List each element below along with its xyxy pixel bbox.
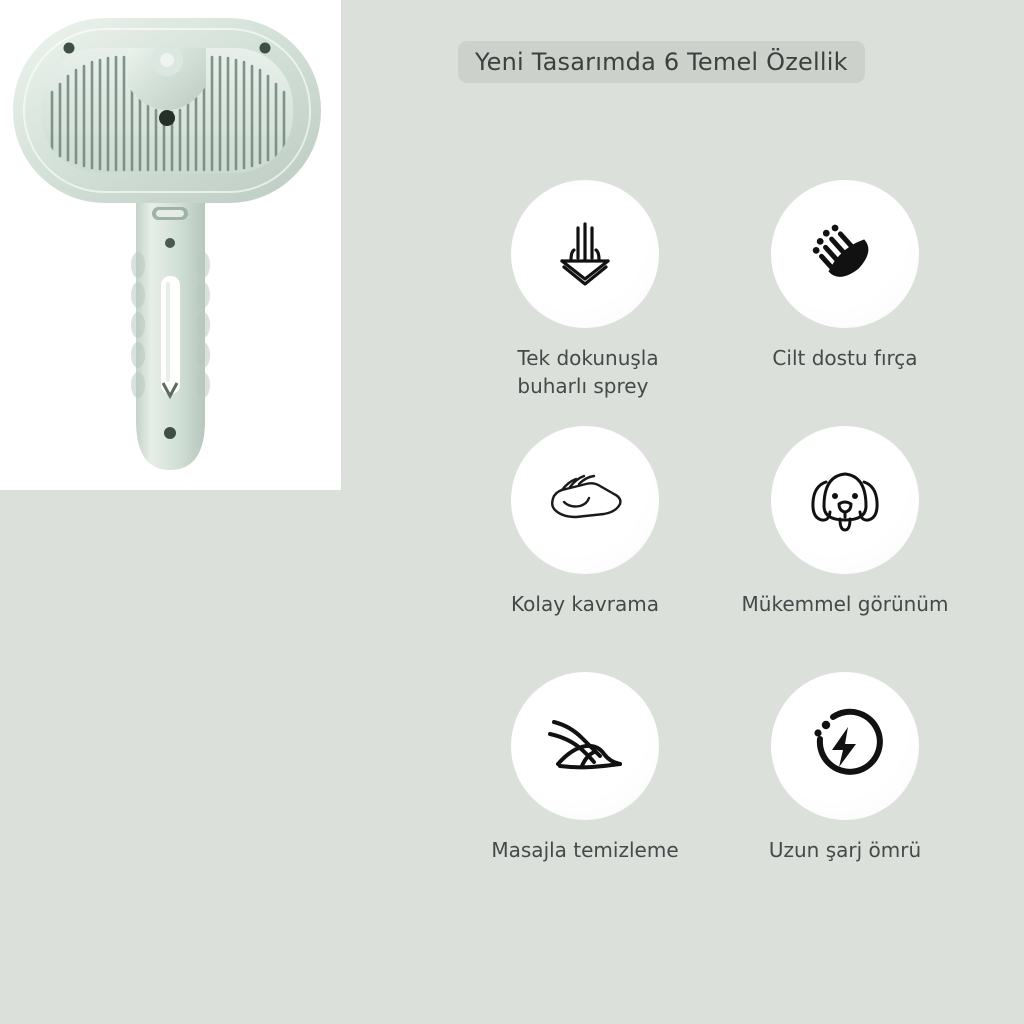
feature-label: Cilt dostu fırça bbox=[772, 344, 917, 372]
feature-icon-circle bbox=[511, 426, 659, 574]
feature-icon-circle bbox=[771, 180, 919, 328]
screw-right bbox=[260, 43, 271, 54]
screw-bottom bbox=[164, 427, 176, 439]
dog-face-icon bbox=[804, 462, 886, 538]
feature-item-massage[interactable]: Masajla temizleme bbox=[455, 672, 715, 892]
product-image-panel bbox=[0, 0, 341, 490]
feature-label: Uzun şarj ömrü bbox=[769, 836, 921, 864]
feature-label: Masajla temizleme bbox=[491, 836, 678, 864]
feature-item-appearance[interactable]: Mükemmel görünüm bbox=[715, 426, 975, 646]
usb-c-port-icon bbox=[152, 207, 188, 220]
feature-label: Tek dokunuşla buharlı sprey bbox=[517, 344, 658, 400]
feature-item-grip[interactable]: Kolay kavrama bbox=[455, 426, 715, 646]
screw-top bbox=[165, 238, 175, 248]
page-title-badge: Yeni Tasarımda 6 Temel Özellik bbox=[458, 41, 865, 83]
feature-icon-circle bbox=[771, 672, 919, 820]
open-hand-icon bbox=[542, 462, 628, 538]
feature-icon-circle bbox=[511, 672, 659, 820]
product-head bbox=[13, 18, 321, 203]
page-title: Yeni Tasarımda 6 Temel Özellik bbox=[475, 48, 848, 76]
feature-item-battery[interactable]: Uzun şarj ömrü bbox=[715, 672, 975, 892]
feature-item-steam-spray[interactable]: Tek dokunuşla buharlı sprey bbox=[455, 180, 715, 400]
screw-left bbox=[64, 43, 75, 54]
steam-spray-icon bbox=[547, 216, 623, 292]
fast-charge-icon bbox=[806, 707, 884, 785]
massage-hand-icon bbox=[542, 708, 628, 784]
center-button[interactable] bbox=[159, 110, 175, 126]
feature-label: Kolay kavrama bbox=[511, 590, 659, 618]
feature-icon-circle bbox=[771, 426, 919, 574]
feature-item-brush[interactable]: Cilt dostu fırça bbox=[715, 180, 975, 400]
brush-icon bbox=[807, 216, 883, 292]
feature-label: Mükemmel görünüm bbox=[742, 590, 949, 618]
product-illustration bbox=[0, 0, 341, 490]
feature-icon-circle bbox=[511, 180, 659, 328]
water-window bbox=[161, 276, 180, 396]
feature-grid: Tek dokunuşla buharlı sprey bbox=[455, 180, 975, 892]
